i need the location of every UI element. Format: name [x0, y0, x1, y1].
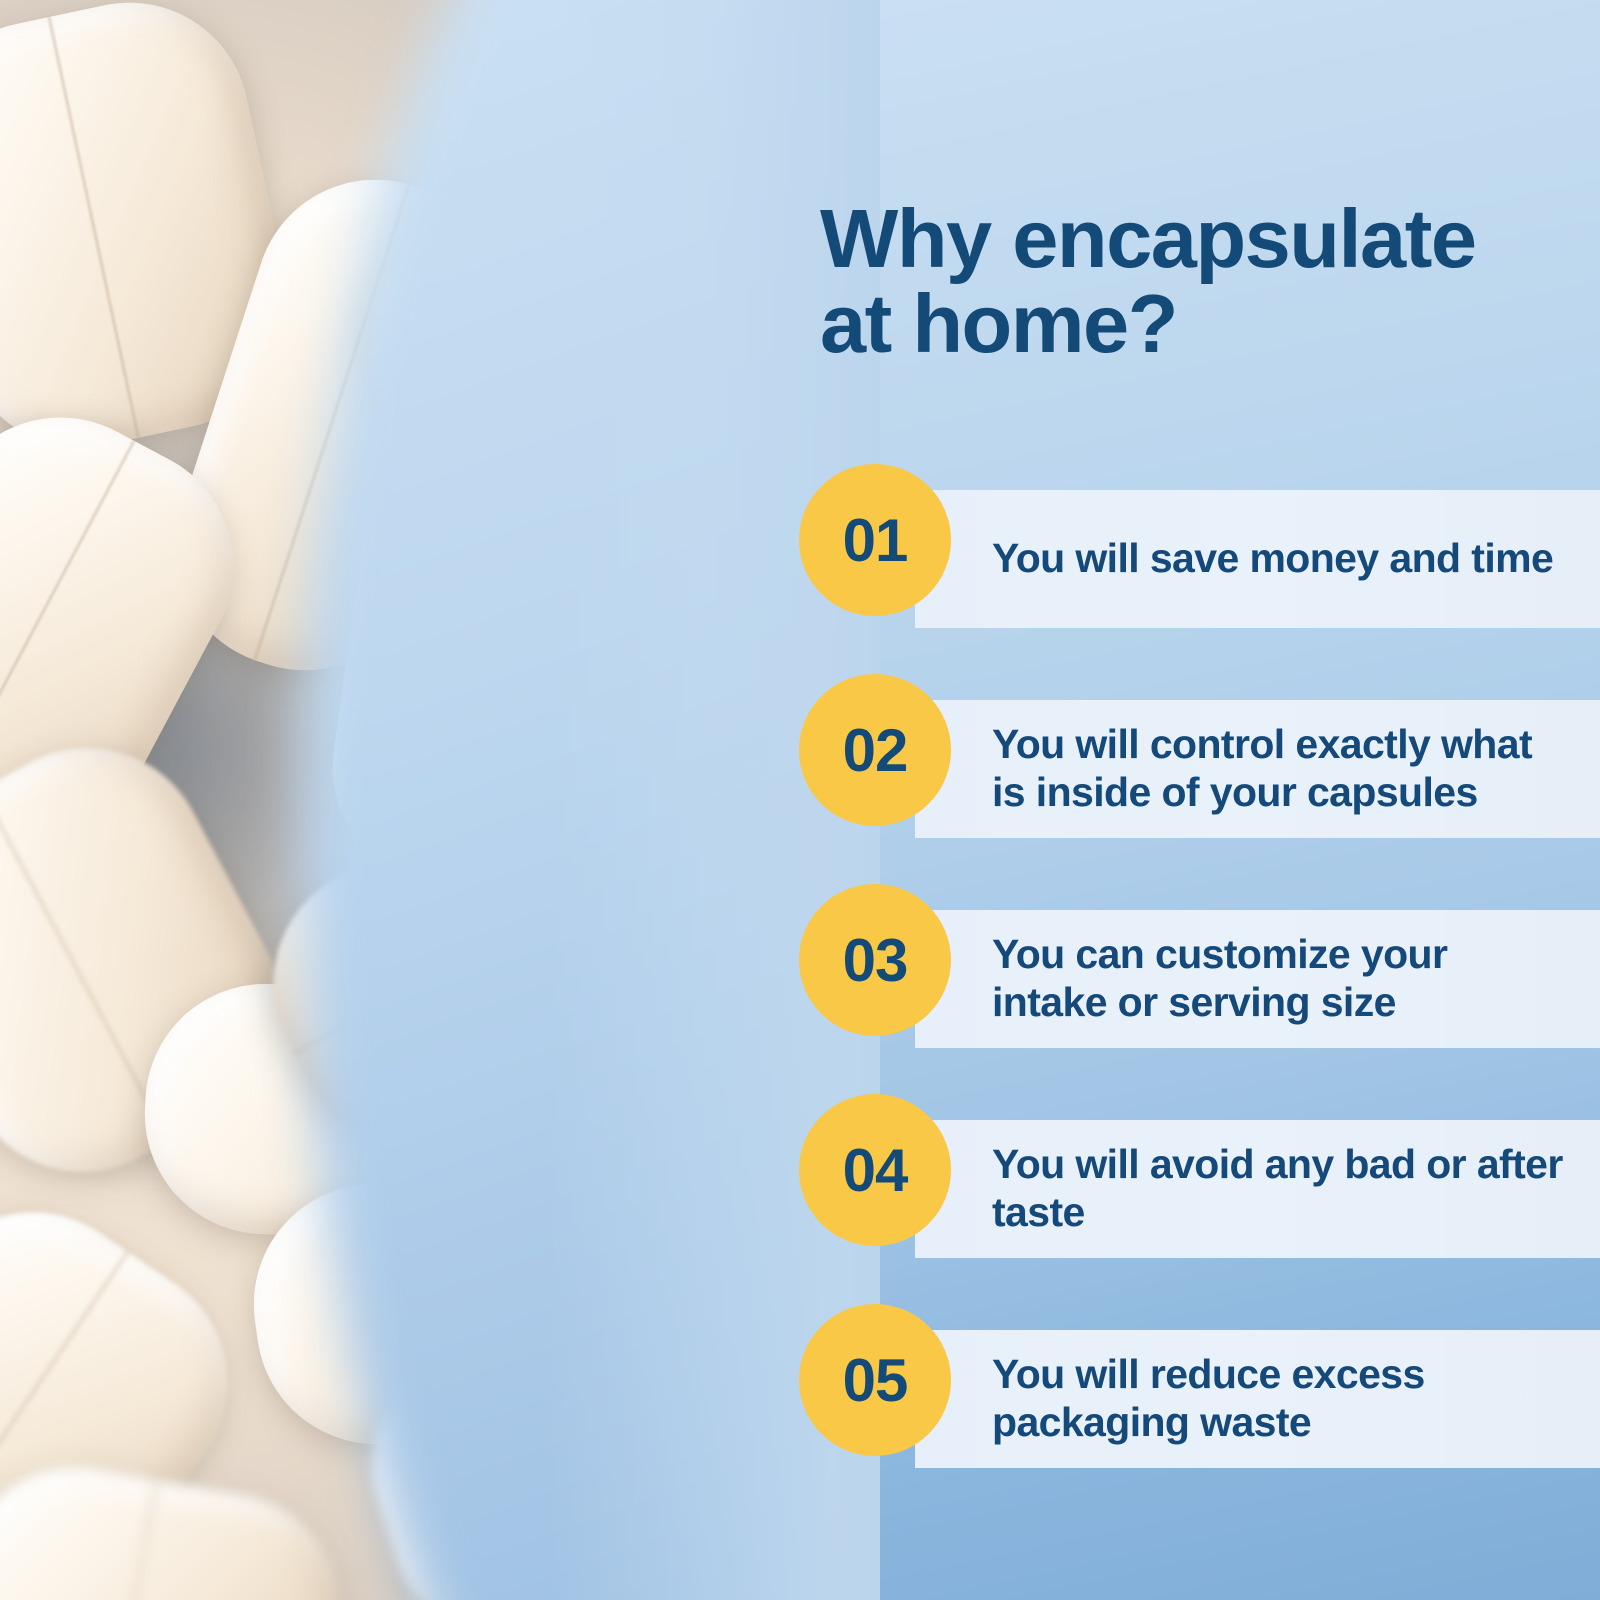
list-item-text: You will control exactly what is inside … — [992, 721, 1572, 817]
list-item: 03 You can customize your intake or serv… — [0, 910, 1600, 1048]
list-item-number-badge: 04 — [799, 1094, 951, 1246]
list-item-number-badge: 03 — [799, 884, 951, 1036]
list-item-text: You will avoid any bad or after taste — [992, 1141, 1572, 1237]
list-item-number-badge: 02 — [799, 674, 951, 826]
list-item: 05 You will reduce excess packaging wast… — [0, 1330, 1600, 1468]
list-item-number-badge: 05 — [799, 1304, 951, 1456]
page-title: Why encapsulate at home? — [820, 196, 1540, 367]
list-item-text: You can customize your intake or serving… — [992, 931, 1572, 1027]
list-item-text: You will save money and time — [992, 535, 1572, 583]
list-item-number-badge: 01 — [799, 464, 951, 616]
list-item: 04 You will avoid any bad or after taste — [0, 1120, 1600, 1258]
benefits-list: 01 You will save money and time 02 You w… — [0, 490, 1600, 1468]
list-item: 01 You will save money and time — [0, 490, 1600, 628]
list-item: 02 You will control exactly what is insi… — [0, 700, 1600, 838]
list-item-text: You will reduce excess packaging waste — [992, 1351, 1572, 1447]
infographic-poster: Why encapsulate at home? 01 You will sav… — [0, 0, 1600, 1600]
